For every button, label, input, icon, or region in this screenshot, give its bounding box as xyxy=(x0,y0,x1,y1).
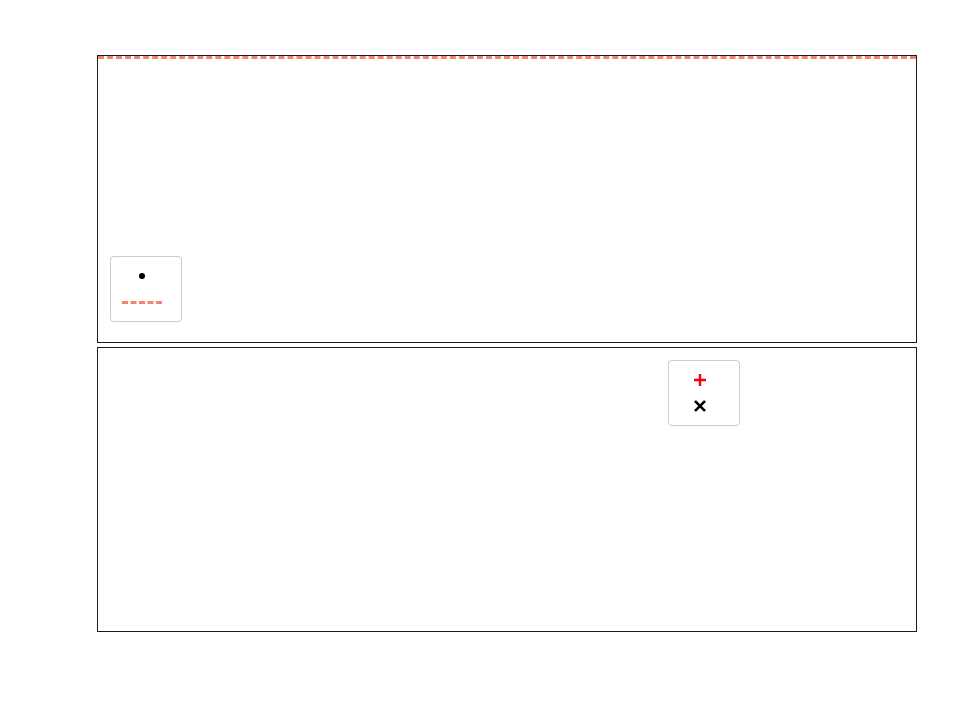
bottom-plot-area xyxy=(98,348,916,631)
legend-item-threshold xyxy=(119,289,171,315)
top-panel-axes xyxy=(97,55,917,343)
threshold-line xyxy=(98,56,916,59)
legend-item-measurements xyxy=(119,263,171,289)
plus-marker-icon xyxy=(677,372,723,388)
cross-marker-icon xyxy=(677,398,723,414)
top-panel-legend xyxy=(110,256,182,322)
dashed-line-icon xyxy=(119,301,165,304)
top-plot-area xyxy=(98,56,916,342)
legend-item-matched-stars xyxy=(677,367,729,393)
dot-marker-icon xyxy=(119,273,165,278)
bottom-panel-axes xyxy=(97,347,917,632)
figure-canvas xyxy=(0,0,960,720)
legend-item-predicted-stars xyxy=(677,393,729,419)
bottom-panel-legend xyxy=(668,360,740,426)
